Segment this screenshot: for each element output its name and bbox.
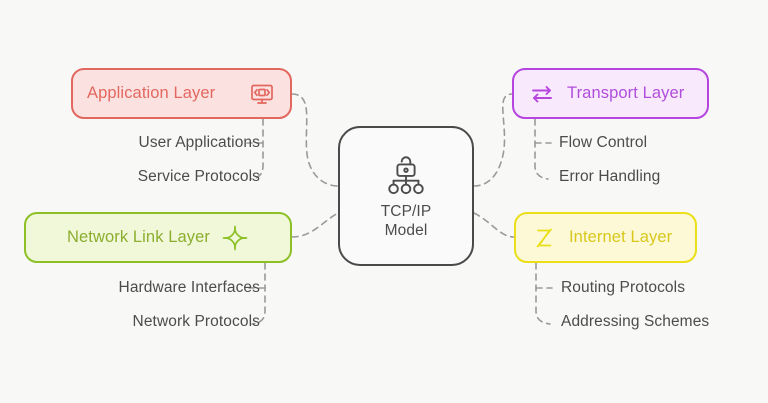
sub-item-service-protocols[interactable]: Service Protocols: [138, 168, 260, 186]
sub-item-addressing-schemes[interactable]: Addressing Schemes: [561, 313, 709, 331]
center-node[interactable]: TCP/IP Model: [338, 126, 474, 266]
center-node-label-line1: TCP/IP: [381, 202, 432, 221]
branch-label-transport: Transport Layer: [567, 84, 684, 103]
edge-network-to-center: [292, 213, 338, 237]
edge-center-to-transport: [474, 94, 512, 186]
branch-label-internet: Internet Layer: [569, 228, 672, 247]
sub-item-error-handling[interactable]: Error Handling: [559, 168, 660, 186]
diagram-canvas: TCP/IP Model Application Layer User Appl…: [0, 0, 768, 403]
branch-box-network-link[interactable]: Network Link Layer: [24, 212, 292, 263]
branch-box-internet[interactable]: Internet Layer: [514, 212, 697, 263]
four-point-star-icon: [221, 224, 249, 252]
branch-label-application: Application Layer: [87, 84, 215, 103]
network-lock-icon: [383, 152, 429, 196]
branch-label-network-link: Network Link Layer: [67, 228, 210, 247]
edge-internet-subtree: [536, 263, 550, 324]
sub-item-routing-protocols[interactable]: Routing Protocols: [561, 279, 685, 297]
sub-item-hardware-interfaces[interactable]: Hardware Interfaces: [119, 279, 260, 297]
edge-application-to-center: [292, 94, 338, 186]
exchange-arrows-icon: [528, 80, 556, 108]
edge-center-to-internet: [474, 213, 514, 237]
center-node-label-line2: Model: [381, 221, 432, 240]
sub-item-network-protocols[interactable]: Network Protocols: [133, 313, 260, 331]
center-node-label: TCP/IP Model: [381, 202, 432, 241]
z-slash-icon: [530, 224, 558, 252]
sub-item-user-applications[interactable]: User Applications: [139, 134, 260, 152]
sub-item-flow-control[interactable]: Flow Control: [559, 134, 647, 152]
edge-transport-subtree: [535, 119, 548, 179]
branch-box-application[interactable]: Application Layer: [71, 68, 292, 119]
code-monitor-icon: [248, 80, 276, 108]
branch-box-transport[interactable]: Transport Layer: [512, 68, 709, 119]
